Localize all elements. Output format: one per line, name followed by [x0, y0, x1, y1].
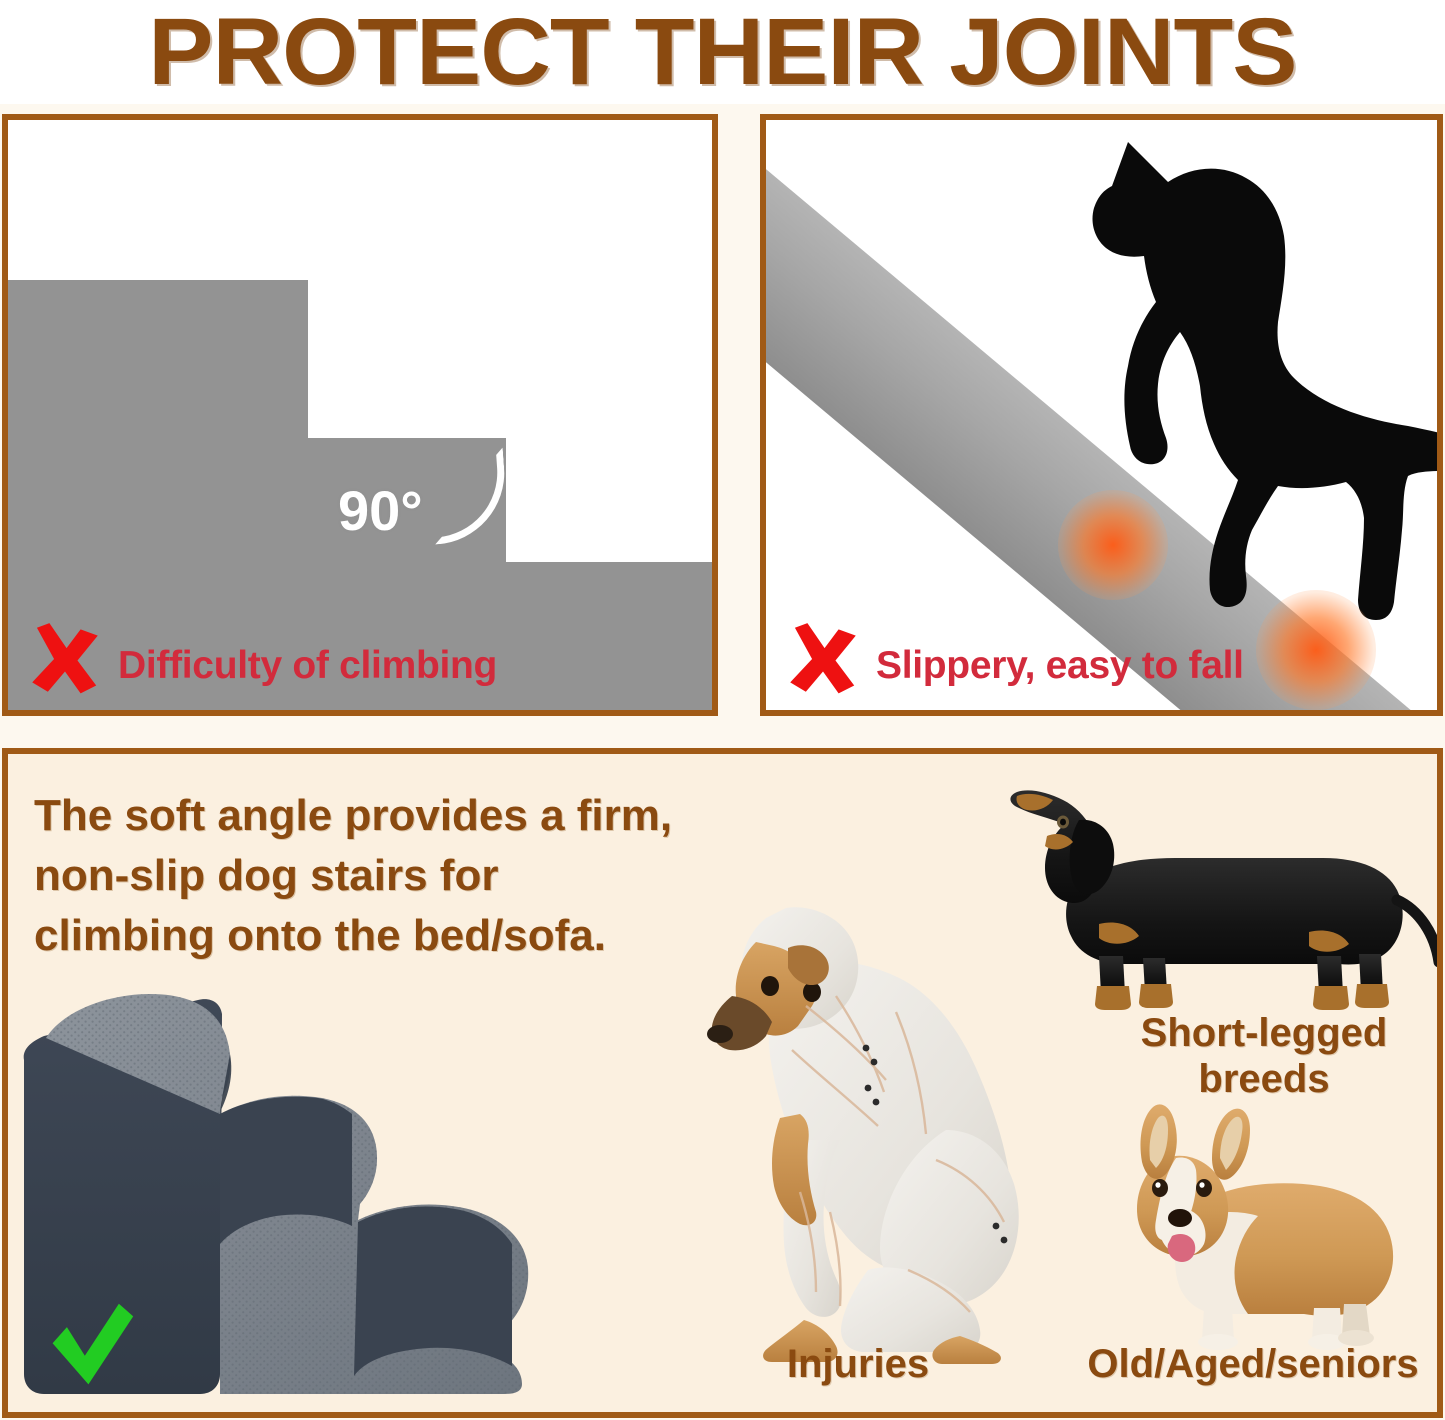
- page-header: PROTECT THEIR JOINTS: [0, 0, 1445, 104]
- dog-silhouette-icon: [916, 120, 1443, 640]
- solution-headline-line-2: non-slip dog stairs for: [34, 846, 734, 906]
- red-x-icon: [784, 620, 862, 698]
- panel-difficulty-of-climbing: 90° Difficulty of climbing: [2, 114, 718, 716]
- photo-corgi: [1098, 1102, 1443, 1352]
- ramp-scene: [766, 120, 1437, 710]
- panel-solution: The soft angle provides a firm, non-slip…: [2, 748, 1443, 1418]
- stair-floor: [8, 568, 714, 716]
- panel-slippery-easy-to-fall: Slippery, easy to fall: [760, 114, 1443, 716]
- label-injuries: Injuries: [708, 1342, 1008, 1387]
- page-title: PROTECT THEIR JOINTS: [148, 5, 1296, 100]
- solution-headline-line-3: climbing onto the bed/sofa.: [34, 906, 734, 966]
- caption-difficulty-of-climbing: Difficulty of climbing: [118, 644, 497, 688]
- label-short-legged-breeds: Short-legged breeds: [1074, 1010, 1443, 1102]
- green-check-icon: [46, 1302, 138, 1388]
- angle-value-label: 90°: [338, 478, 423, 543]
- solution-headline-line-1: The soft angle provides a firm,: [34, 786, 734, 846]
- label-old-aged-seniors: Old/Aged/seniors: [1058, 1342, 1443, 1387]
- red-x-icon: [26, 620, 104, 698]
- photo-dachshund: [1003, 774, 1443, 1014]
- caption-slippery-easy-to-fall: Slippery, easy to fall: [876, 644, 1244, 688]
- solution-headline: The soft angle provides a firm, non-slip…: [34, 786, 734, 965]
- photo-injured-dog: [660, 800, 1060, 1400]
